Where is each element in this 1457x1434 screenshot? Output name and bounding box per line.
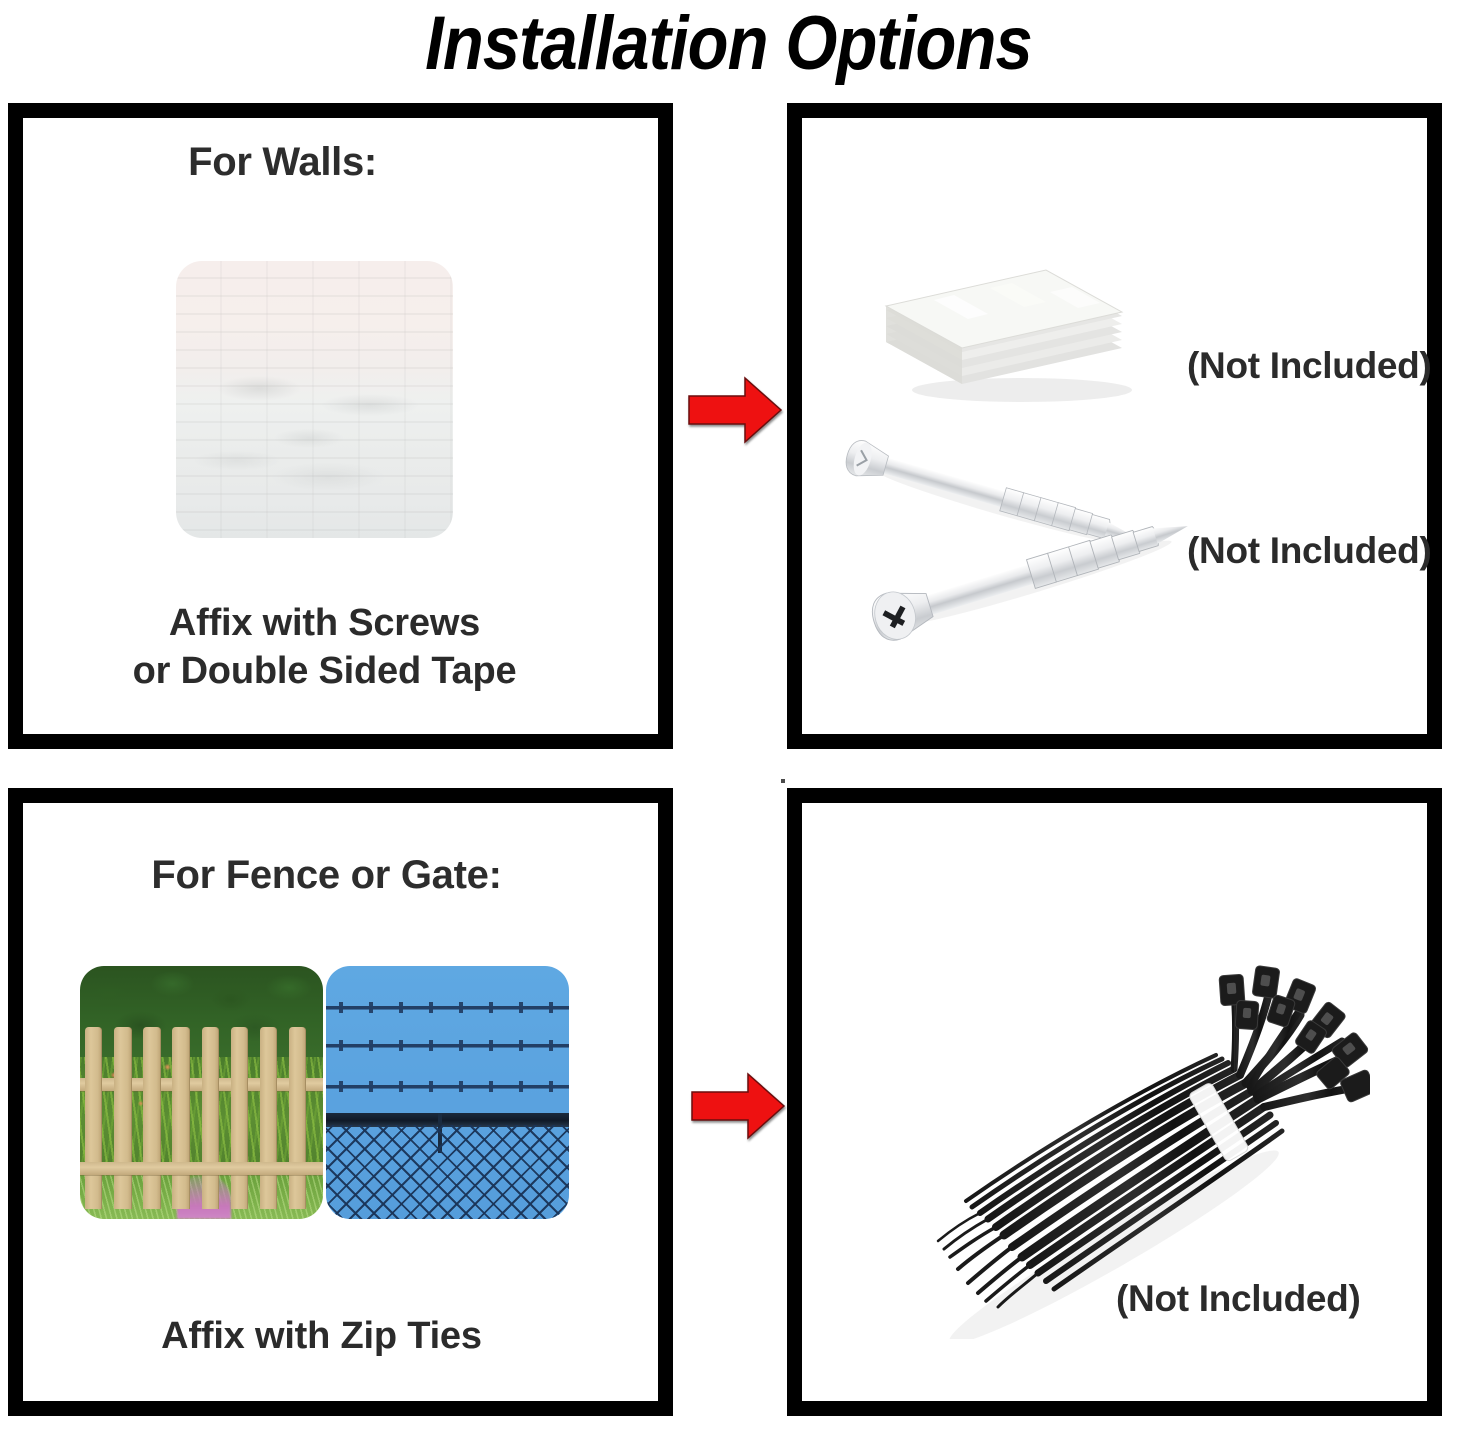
caption-line-1: Affix with Screws (7, 599, 642, 648)
caption-for-fence: Affix with Zip Ties (4, 1312, 639, 1361)
picket (260, 1027, 277, 1209)
heading-for-fence-or-gate: For Fence or Gate: (9, 853, 644, 898)
phillips-wood-screws-image (840, 438, 1230, 648)
barbed-wire-strand (326, 1044, 569, 1047)
red-right-arrow-icon (687, 374, 783, 446)
panel-for-walls: For Walls: Affix with Screws or Double S… (8, 103, 673, 749)
picket (85, 1027, 102, 1209)
wooden-picket-fence-photo (80, 966, 323, 1219)
panel-wall-hardware: (Not Included) (787, 103, 1442, 749)
brick-texture-mottle (176, 261, 453, 538)
fence-pickets (80, 1027, 323, 1209)
screw-not-included-label: (Not Included) (1187, 530, 1431, 572)
page-title: Installation Options (87, 0, 1369, 92)
chain-link-barbed-wire-photo (326, 966, 569, 1219)
picket (143, 1027, 160, 1209)
picket (114, 1027, 131, 1209)
caption-line-2: or Double Sided Tape (7, 647, 642, 696)
barbed-wire-strand (326, 1085, 569, 1088)
red-right-arrow-icon (690, 1070, 786, 1142)
picket (202, 1027, 219, 1209)
chain-link-mesh (326, 1125, 569, 1219)
picket (172, 1027, 189, 1209)
panel-zip-ties: (Not Included) (787, 788, 1442, 1416)
ziptie-not-included-label: (Not Included) (1116, 1278, 1360, 1320)
caption-for-walls: Affix with Screws or Double Sided Tape (7, 599, 642, 696)
heading-for-walls: For Walls: (0, 140, 600, 185)
white-brick-wall-photo (176, 261, 453, 538)
double-sided-tape-stack-image (864, 230, 1164, 410)
panel-for-fence-or-gate: For Fence or Gate: (8, 788, 673, 1416)
tape-not-included-label: (Not Included) (1187, 345, 1431, 387)
fence-rail-lower (80, 1162, 323, 1176)
barbed-wire-strand (326, 1006, 569, 1009)
image-artifact-speck (781, 779, 785, 783)
picket (231, 1027, 248, 1209)
picket (289, 1027, 306, 1209)
